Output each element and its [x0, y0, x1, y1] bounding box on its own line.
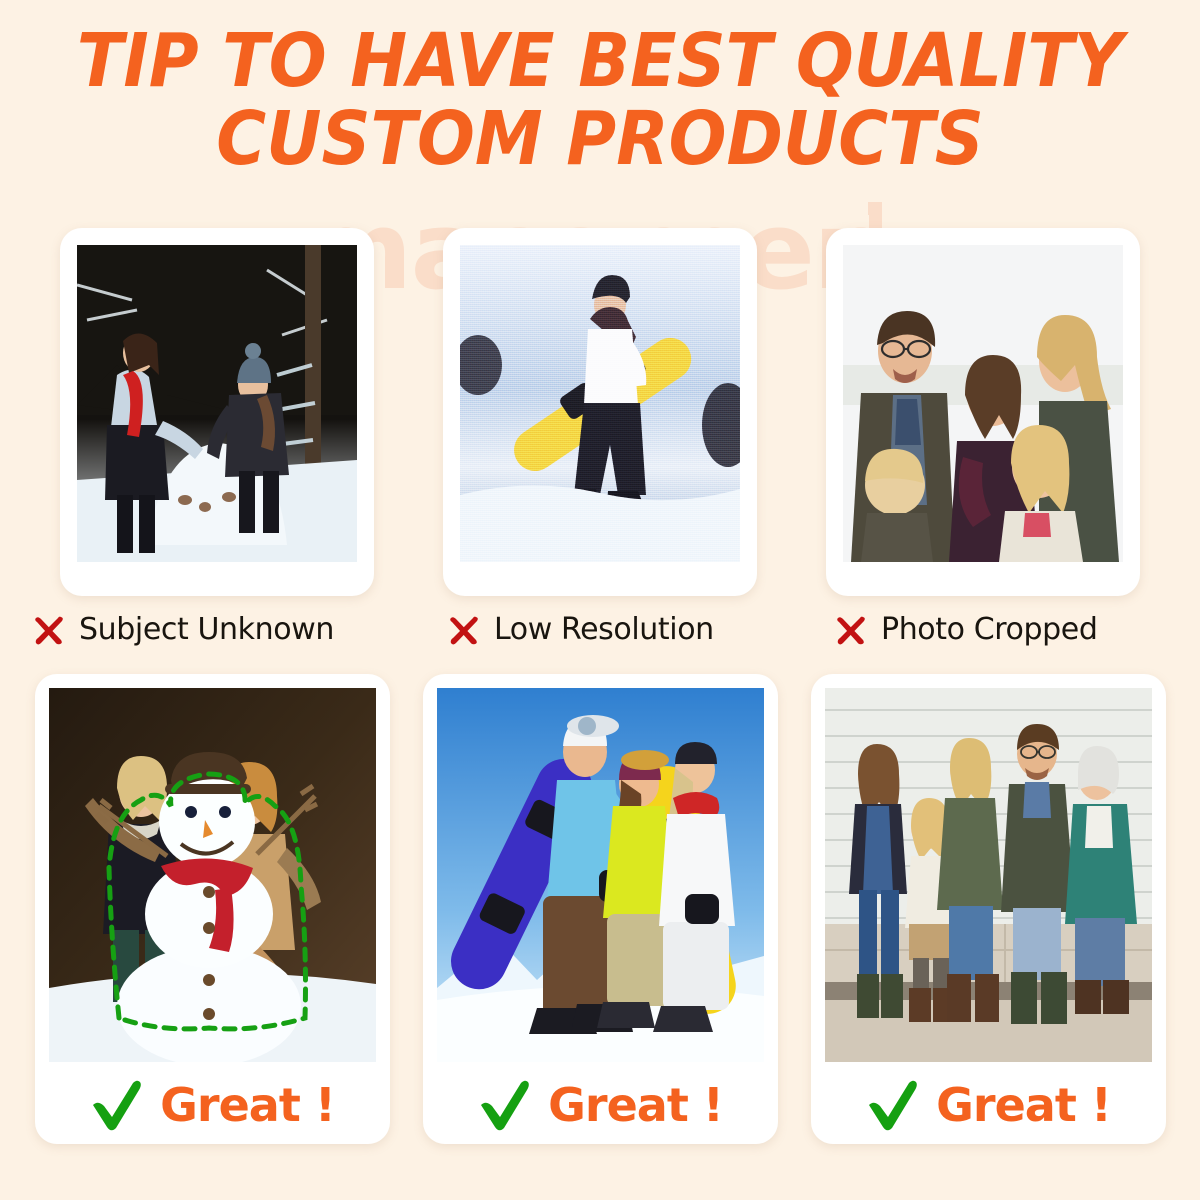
check-mark-icon	[478, 1079, 532, 1131]
good-example-label-text: Great !	[160, 1078, 335, 1132]
page-title-line-1: TIP TO HAVE BEST QUALITY	[48, 22, 1152, 100]
good-example-label-text: Great !	[548, 1078, 723, 1132]
x-mark-icon	[447, 613, 481, 647]
bad-example-label-photo-cropped: Photo Cropped	[834, 612, 1097, 647]
photo-art	[49, 688, 376, 1062]
x-mark-icon	[834, 613, 868, 647]
good-example-label-text: Great !	[936, 1078, 1111, 1132]
good-example-label-2: Great !	[423, 1078, 778, 1132]
photo-cropped	[843, 245, 1123, 562]
good-example-label-3: Great !	[811, 1078, 1166, 1132]
bad-example-label-text: Subject Unknown	[79, 612, 334, 647]
page-title-line-2: CUSTOM PRODUCTS	[48, 100, 1152, 178]
check-mark-icon	[90, 1079, 144, 1131]
photo-art	[843, 245, 1123, 562]
photo-snowman-outlined	[49, 688, 376, 1062]
bad-example-label-text: Low Resolution	[494, 612, 714, 647]
bad-example-card-low-resolution[interactable]	[443, 228, 757, 596]
photo-family-wall	[825, 688, 1152, 1062]
photo-art	[437, 688, 764, 1062]
photo-low-resolution	[460, 245, 740, 562]
bad-example-label-low-resolution: Low Resolution	[447, 612, 714, 647]
good-example-card-subject-outlined[interactable]: Great !	[35, 674, 390, 1144]
bad-example-label-text: Photo Cropped	[881, 612, 1097, 647]
bad-example-label-subject-unknown: Subject Unknown	[32, 612, 334, 647]
photo-art	[77, 245, 357, 562]
photo-snowboarders	[437, 688, 764, 1062]
photo-noise-overlay	[460, 245, 740, 562]
bad-example-card-subject-unknown[interactable]	[60, 228, 374, 596]
photo-art	[825, 688, 1152, 1062]
x-mark-icon	[32, 613, 66, 647]
good-example-card-family[interactable]: Great !	[811, 674, 1166, 1144]
photo-subject-unknown	[77, 245, 357, 562]
bad-example-card-photo-cropped[interactable]	[826, 228, 1140, 596]
good-example-label-1: Great !	[35, 1078, 390, 1132]
check-mark-icon	[866, 1079, 920, 1131]
good-example-card-snowboarders[interactable]: Great !	[423, 674, 778, 1144]
page-title: TIP TO HAVE BEST QUALITY CUSTOM PRODUCTS	[0, 22, 1200, 178]
